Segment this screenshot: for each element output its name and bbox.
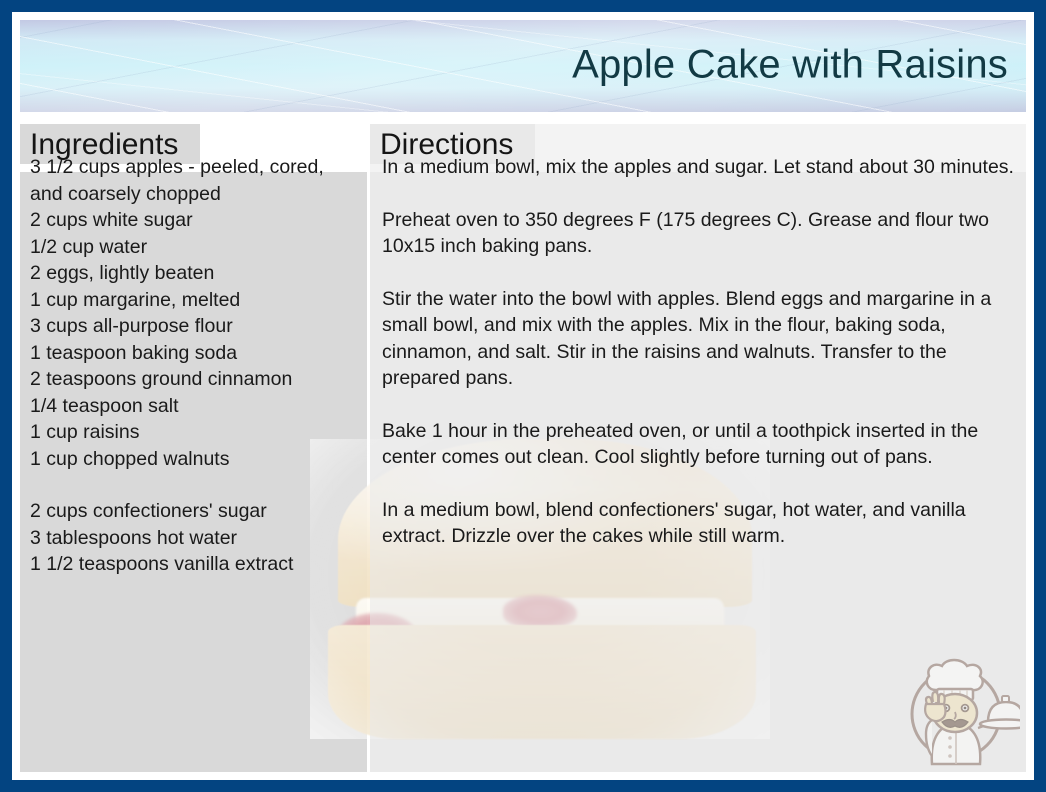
- directions-column: Directions In a medium bowl, mix the app…: [370, 124, 1026, 772]
- ingredient-group-glaze: 2 cups confectioners' sugar 3 tablespoon…: [30, 498, 360, 578]
- card-inner: Apple Cake with Raisins Ingredients: [12, 12, 1034, 780]
- ingredients-list: 3 1/2 cups apples - peeled, cored, and c…: [30, 154, 360, 578]
- list-item: 3 tablespoons hot water: [30, 525, 360, 552]
- direction-step: In a medium bowl, mix the apples and sug…: [382, 154, 1020, 181]
- list-item: 1 cup margarine, melted: [30, 287, 360, 314]
- list-item: 1 cup chopped walnuts: [30, 446, 360, 473]
- ingredient-group-cake: 3 1/2 cups apples - peeled, cored, and c…: [30, 154, 360, 472]
- list-item: 1/4 teaspoon salt: [30, 393, 360, 420]
- direction-step: Stir the water into the bowl with apples…: [382, 286, 1020, 392]
- list-item: 1/2 cup water: [30, 234, 360, 261]
- list-item: 1 cup raisins: [30, 419, 360, 446]
- recipe-card: Apple Cake with Raisins Ingredients: [0, 0, 1046, 792]
- list-item: 2 cups confectioners' sugar: [30, 498, 360, 525]
- recipe-title: Apple Cake with Raisins: [572, 43, 1008, 88]
- list-item: 1 teaspoon baking soda: [30, 340, 360, 367]
- direction-step: Bake 1 hour in the preheated oven, or un…: [382, 418, 1020, 471]
- ingredients-column: Ingredients 3 1/2 cups apples - peeled, …: [20, 124, 367, 772]
- content-columns: Ingredients 3 1/2 cups apples - peeled, …: [20, 124, 1026, 772]
- direction-step: In a medium bowl, blend confectioners' s…: [382, 497, 1020, 550]
- list-item: 1 1/2 teaspoons vanilla extract: [30, 551, 360, 578]
- list-item: 3 cups all-purpose flour: [30, 313, 360, 340]
- title-banner: Apple Cake with Raisins: [20, 20, 1026, 112]
- direction-step: Preheat oven to 350 degrees F (175 degre…: [382, 207, 1020, 260]
- directions-list: In a medium bowl, mix the apples and sug…: [382, 154, 1020, 550]
- list-item: 2 eggs, lightly beaten: [30, 260, 360, 287]
- list-item: 2 teaspoons ground cinnamon: [30, 366, 360, 393]
- list-item: 2 cups white sugar: [30, 207, 360, 234]
- list-item: 3 1/2 cups apples - peeled, cored, and c…: [30, 154, 360, 207]
